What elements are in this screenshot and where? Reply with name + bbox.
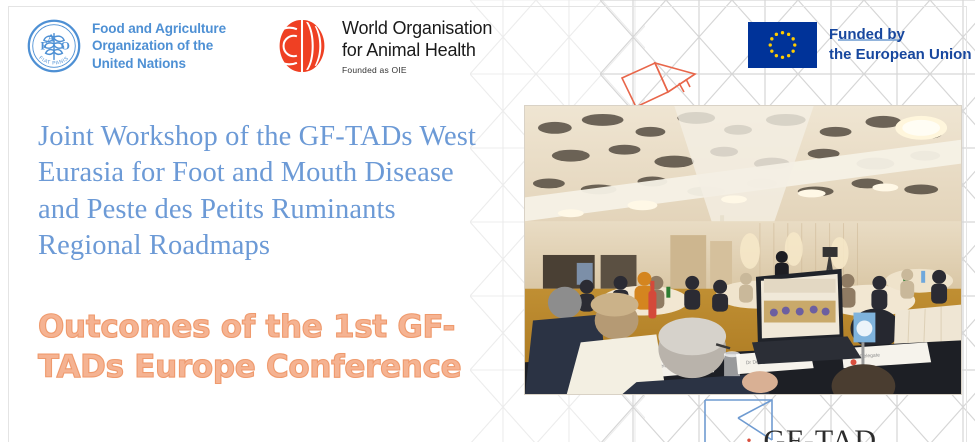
slide-title-line-3: and Peste des Petits Ruminants <box>38 192 538 228</box>
eu-line-1: Funded by <box>829 25 972 45</box>
presentation-slide: F A O FIAT PANIS Food and Agriculture Or… <box>0 0 975 442</box>
woah-globe-icon <box>276 18 328 74</box>
eu-line-2: the European Union <box>829 45 972 65</box>
fao-line-2: Organization of the <box>92 37 226 54</box>
slide-title-line-2: Eurasia for Foot and Mouth Disease <box>38 155 538 191</box>
slide-title: Joint Workshop of the GF-TADs West Euras… <box>38 119 538 265</box>
eu-flag-icon <box>748 22 817 68</box>
fao-line-3: United Nations <box>92 55 226 72</box>
footer-clipped-text: GF-TAD <box>764 424 878 442</box>
footer-accent-dot: · <box>744 424 755 442</box>
woah-logo-text: World Organisation for Animal Health Fou… <box>342 18 492 75</box>
svg-text:A: A <box>48 34 56 45</box>
woah-line-2: for Animal Health <box>342 40 492 62</box>
woah-line-1: World Organisation <box>342 18 492 40</box>
footer-clipped-label: · GF-TAD <box>744 424 877 442</box>
fao-line-1: Food and Agriculture <box>92 20 226 37</box>
svg-text:O: O <box>61 39 70 52</box>
slide-title-line-4: Regional Roadmaps <box>38 228 538 264</box>
fao-logo-text: Food and Agriculture Organization of the… <box>92 20 226 72</box>
slide-subheadline: Outcomes of the 1st GF- TADs Europe Conf… <box>38 307 508 388</box>
conference-hall-photo: Dr Delegate Dr Delegate Dr Delegate <box>524 105 962 395</box>
woah-logo: World Organisation for Animal Health Fou… <box>276 18 492 75</box>
eu-funding-badge: Funded by the European Union <box>748 22 972 68</box>
svg-text:F: F <box>41 39 48 52</box>
slide-subheadline-line-2: TADs Europe Conference <box>38 347 508 387</box>
slide-subheadline-line-1: Outcomes of the 1st GF- <box>38 307 508 347</box>
partner-logo-row: F A O FIAT PANIS Food and Agriculture Or… <box>26 18 492 75</box>
woah-subtitle: Founded as OIE <box>342 65 492 75</box>
fao-wheat-emblem-icon: F A O FIAT PANIS <box>26 18 82 74</box>
eu-funding-text: Funded by the European Union <box>829 25 972 65</box>
slide-title-line-1: Joint Workshop of the GF-TADs West <box>38 119 538 155</box>
fao-logo: F A O FIAT PANIS Food and Agriculture Or… <box>26 18 226 74</box>
